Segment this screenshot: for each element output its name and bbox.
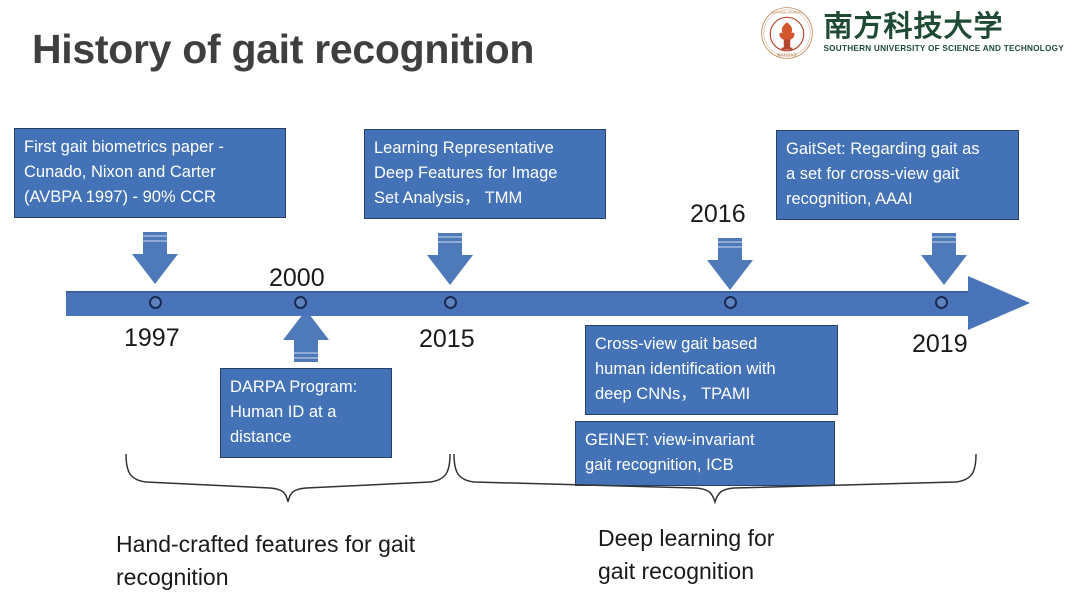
callout-2015[interactable]: Learning Representative Deep Features fo… bbox=[364, 129, 606, 219]
logo-english-name: SOUTHERN UNIVERSITY OF SCIENCE AND TECHN… bbox=[823, 45, 1064, 53]
university-logo: SOUTHERN UNIVERSITY 南方科技大学 南方科技大学 SOUTHE… bbox=[760, 6, 1064, 60]
sustech-emblem-icon: SOUTHERN UNIVERSITY 南方科技大学 bbox=[760, 6, 814, 60]
arrow-head bbox=[707, 260, 753, 290]
arrow-down-2019 bbox=[921, 233, 967, 285]
year-label-1997: 1997 bbox=[124, 324, 180, 353]
timeline-node-2019[interactable] bbox=[935, 296, 948, 309]
timeline-node-1997[interactable] bbox=[149, 296, 162, 309]
timeline-node-2000[interactable] bbox=[294, 296, 307, 309]
arrow-up-2000 bbox=[283, 310, 329, 362]
group-caption-deeplearning: Deep learning for gait recognition bbox=[598, 522, 898, 588]
brace-deeplearning bbox=[448, 450, 982, 505]
logo-chinese-name: 南方科技大学 bbox=[823, 12, 1064, 41]
callout-2016-tpami[interactable]: Cross-view gait based human identificati… bbox=[585, 325, 838, 415]
year-label-2015: 2015 bbox=[419, 325, 475, 354]
callout-2000-darpa[interactable]: DARPA Program: Human ID at a distance bbox=[220, 368, 392, 458]
year-label-2016: 2016 bbox=[690, 200, 746, 229]
page-title: History of gait recognition bbox=[32, 26, 534, 73]
callout-2019[interactable]: GaitSet: Regarding gait as a set for cro… bbox=[776, 130, 1019, 220]
svg-text:南方科技大学: 南方科技大学 bbox=[778, 52, 798, 57]
arrow-shaft bbox=[718, 238, 742, 260]
arrow-shaft bbox=[438, 233, 462, 255]
year-label-2000: 2000 bbox=[269, 264, 325, 293]
arrow-shaft bbox=[294, 340, 318, 362]
timeline-axis bbox=[66, 291, 972, 316]
slide-canvas: History of gait recognition SOUTHERN UNI… bbox=[0, 0, 1080, 608]
year-label-2019: 2019 bbox=[912, 330, 968, 359]
svg-text:SOUTHERN UNIVERSITY: SOUTHERN UNIVERSITY bbox=[772, 11, 804, 15]
brace-handcrafted bbox=[120, 450, 456, 505]
arrow-shaft bbox=[932, 233, 956, 255]
arrow-head bbox=[427, 255, 473, 285]
timeline-node-2015[interactable] bbox=[444, 296, 457, 309]
arrow-down-2016 bbox=[707, 238, 753, 290]
arrow-down-1997 bbox=[132, 232, 178, 284]
timeline-node-2016[interactable] bbox=[724, 296, 737, 309]
arrow-head bbox=[132, 254, 178, 284]
arrow-head bbox=[921, 255, 967, 285]
timeline-arrowhead-icon bbox=[968, 276, 1030, 330]
arrow-down-2015 bbox=[427, 233, 473, 285]
group-caption-handcrafted: Hand-crafted features for gait recogniti… bbox=[116, 528, 516, 594]
arrow-shaft bbox=[143, 232, 167, 254]
callout-1997[interactable]: First gait biometrics paper - Cunado, Ni… bbox=[14, 128, 286, 218]
